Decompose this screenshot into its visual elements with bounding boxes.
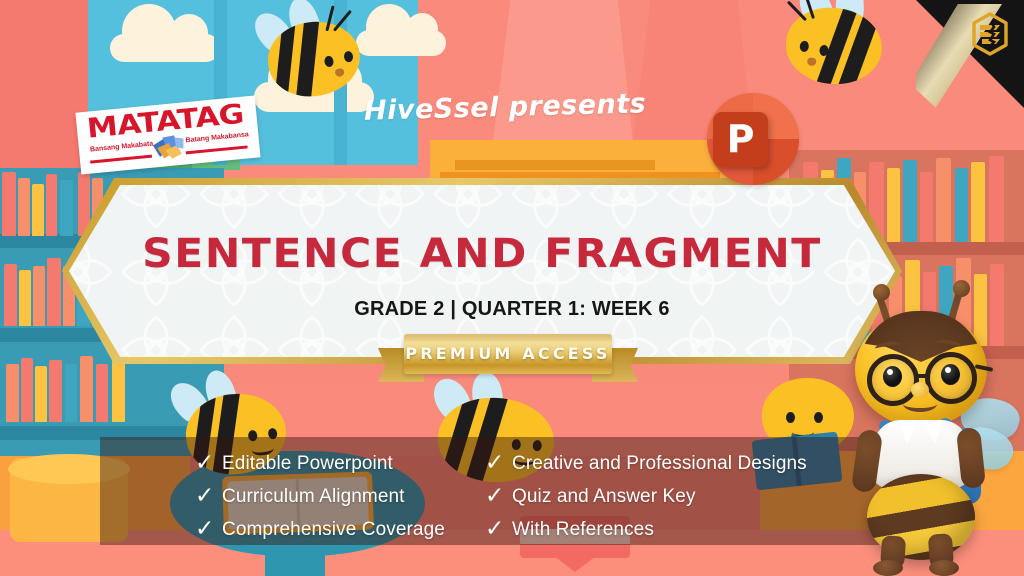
feature-label: Curriculum Alignment <box>222 486 405 508</box>
feature-item: ✓ Creative and Professional Designs <box>485 447 807 480</box>
collar <box>923 420 943 444</box>
glasses-bridge <box>917 374 929 378</box>
flat-bee <box>263 16 364 102</box>
check-icon: ✓ <box>485 518 503 541</box>
foot-right <box>929 560 959 576</box>
feature-label: Creative and Professional Designs <box>512 453 807 475</box>
powerpoint-letter: P <box>713 112 768 167</box>
feature-label: Quiz and Answer Key <box>512 486 696 508</box>
features-column-left: ✓ Editable Powerpoint ✓ Curriculum Align… <box>100 437 405 545</box>
feature-label: With References <box>512 519 654 541</box>
features-column-right: ✓ Creative and Professional Designs ✓ Qu… <box>405 437 807 545</box>
check-icon: ✓ <box>485 452 503 475</box>
clasped-hands-icon <box>150 132 186 161</box>
feature-item: ✓ Editable Powerpoint <box>195 447 405 480</box>
premium-access-ribbon: PREMIUM ACCESS <box>378 334 638 382</box>
feature-item: ✓ Comprehensive Coverage <box>195 513 405 546</box>
antenna-tip <box>953 280 970 297</box>
eye-left <box>883 366 902 387</box>
feature-item: ✓ Curriculum Alignment <box>195 480 405 513</box>
collar <box>899 420 919 444</box>
feature-item: ✓ With References <box>485 513 807 546</box>
feature-item: ✓ Quiz and Answer Key <box>485 480 807 513</box>
powerpoint-tile: P <box>713 112 768 167</box>
foot-left <box>873 560 903 576</box>
flat-bee <box>782 3 885 89</box>
mouth <box>903 396 937 412</box>
matatag-rule <box>90 155 152 163</box>
antenna-tip <box>873 284 890 301</box>
hivessel-hex-logo <box>970 12 1010 56</box>
page-title: SENTENCE AND FRAGMENT <box>69 231 895 277</box>
bee-mascot <box>825 278 1020 576</box>
ribbon-body: PREMIUM ACCESS <box>404 334 612 374</box>
cloud-icon <box>110 34 220 62</box>
ribbon-label: PREMIUM ACCESS <box>404 334 612 374</box>
feature-label: Editable Powerpoint <box>222 453 393 475</box>
check-icon: ✓ <box>195 485 213 508</box>
corner-badge <box>916 0 1024 108</box>
matatag-rule <box>186 145 248 153</box>
powerpoint-icon: P <box>707 93 799 185</box>
poster-canvas: SENTENCE AND FRAGMENT MATATAG Bansang Ma… <box>0 0 1024 576</box>
check-icon: ✓ <box>485 485 503 508</box>
check-icon: ✓ <box>195 518 213 541</box>
check-icon: ✓ <box>195 452 213 475</box>
eye-right <box>941 364 960 385</box>
cloud-icon <box>356 30 446 56</box>
desk-shadow <box>455 160 655 170</box>
card-face: SENTENCE AND FRAGMENT <box>69 185 895 357</box>
